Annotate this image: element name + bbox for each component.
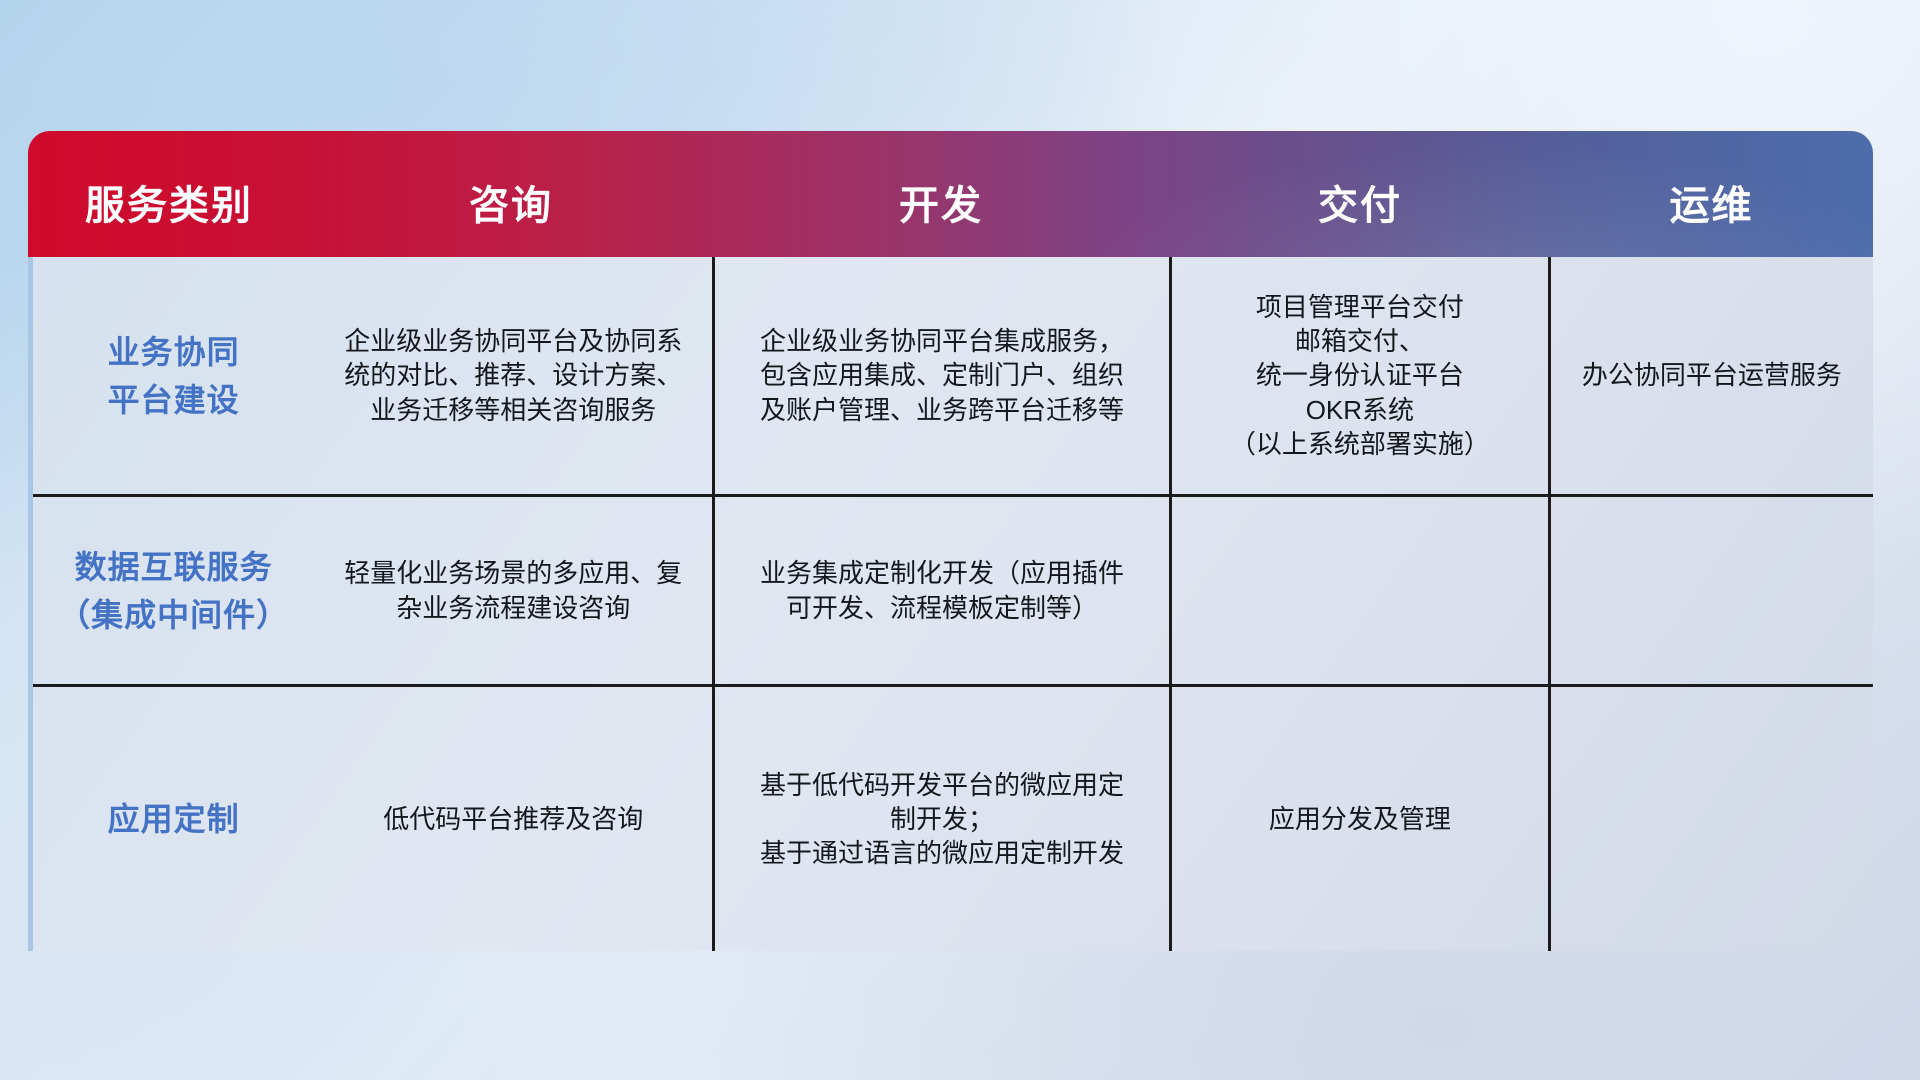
cell-operations [1551,687,1873,951]
row-category-label: 应用定制 [33,687,314,951]
table-row: 业务协同 平台建设 企业级业务协同平台及协同系 统的对比、推荐、设计方案、 业务… [33,257,1873,494]
cell-delivery [1172,497,1551,684]
cell-delivery: 应用分发及管理 [1172,687,1551,951]
row-category-label: 数据互联服务 （集成中间件） [33,497,314,684]
cell-delivery: 项目管理平台交付 邮箱交付、 统一身份认证平台 OKR系统 （以上系统部署实施） [1172,257,1551,494]
table-header-row: 服务类别 咨询 开发 交付 运维 [28,131,1873,257]
column-header-consulting: 咨询 [310,173,712,257]
column-header-development: 开发 [712,173,1170,257]
table-row: 应用定制 低代码平台推荐及咨询 基于低代码开发平台的微应用定 制开发； 基于通过… [33,684,1873,951]
column-header-delivery: 交付 [1170,173,1550,257]
cell-consulting: 轻量化业务场景的多应用、复 杂业务流程建设咨询 [314,497,715,684]
column-header-category: 服务类别 [28,173,310,257]
row-category-label: 业务协同 平台建设 [33,257,314,494]
cell-consulting: 企业级业务协同平台及协同系 统的对比、推荐、设计方案、 业务迁移等相关咨询服务 [314,257,715,494]
cell-operations: 办公协同平台运营服务 [1551,257,1873,494]
cell-consulting: 低代码平台推荐及咨询 [314,687,715,951]
cell-development: 企业级业务协同平台集成服务， 包含应用集成、定制门户、组织 及账户管理、业务跨平… [715,257,1172,494]
table-row: 数据互联服务 （集成中间件） 轻量化业务场景的多应用、复 杂业务流程建设咨询 业… [33,494,1873,684]
cell-operations [1551,497,1873,684]
slide-canvas: 服务类别 咨询 开发 交付 运维 业务协同 平台建设 企业级业务协同平台及协同系… [0,0,1920,1080]
service-matrix-table: 服务类别 咨询 开发 交付 运维 业务协同 平台建设 企业级业务协同平台及协同系… [28,131,1873,951]
column-header-operations: 运维 [1550,173,1873,257]
cell-development: 业务集成定制化开发（应用插件 可开发、流程模板定制等） [715,497,1172,684]
cell-development: 基于低代码开发平台的微应用定 制开发； 基于通过语言的微应用定制开发 [715,687,1172,951]
table-body: 业务协同 平台建设 企业级业务协同平台及协同系 统的对比、推荐、设计方案、 业务… [28,257,1873,951]
